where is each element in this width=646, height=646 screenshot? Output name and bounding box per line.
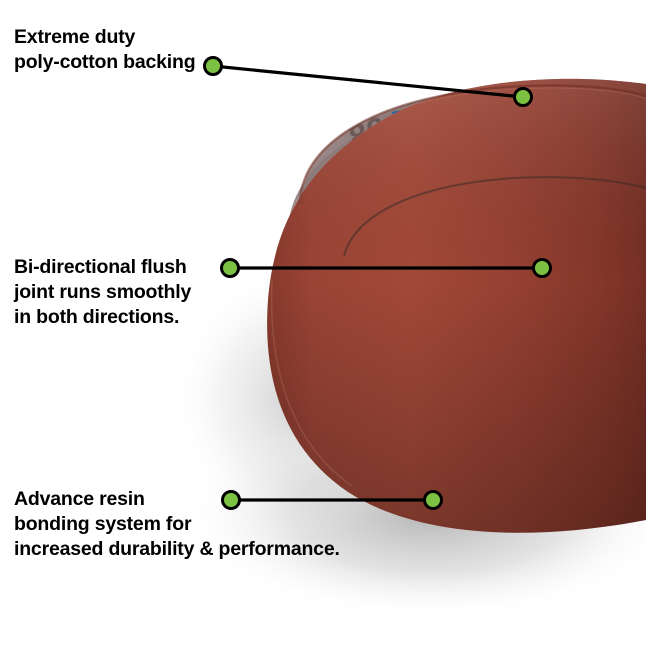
callout-line: Extreme duty (14, 25, 195, 50)
svg-text:U.S.A: U.S.A (257, 158, 282, 196)
callout-label-poly-cotton-backing: Extreme duty poly-cotton backing (14, 25, 195, 75)
callout-line: in both directions. (14, 305, 191, 330)
product-feature-callout-image: 80 Aluminum Oxide Oxyde D'aluminium Óxid… (0, 0, 646, 646)
callout-line: bonding system for (14, 512, 340, 537)
callout-line: poly-cotton backing (14, 50, 195, 75)
callout-line: joint runs smoothly (14, 280, 191, 305)
callout-line: increased durability & performance. (14, 537, 340, 562)
callout-label-resin-bonding-system: Advance resin bonding system for increas… (14, 487, 340, 562)
belt-abrasive-face (267, 79, 646, 533)
callout-line: Advance resin (14, 487, 340, 512)
callout-line: Bi-directional flush (14, 255, 191, 280)
callout-label-bi-directional-joint: Bi-directional flush joint runs smoothly… (14, 255, 191, 330)
